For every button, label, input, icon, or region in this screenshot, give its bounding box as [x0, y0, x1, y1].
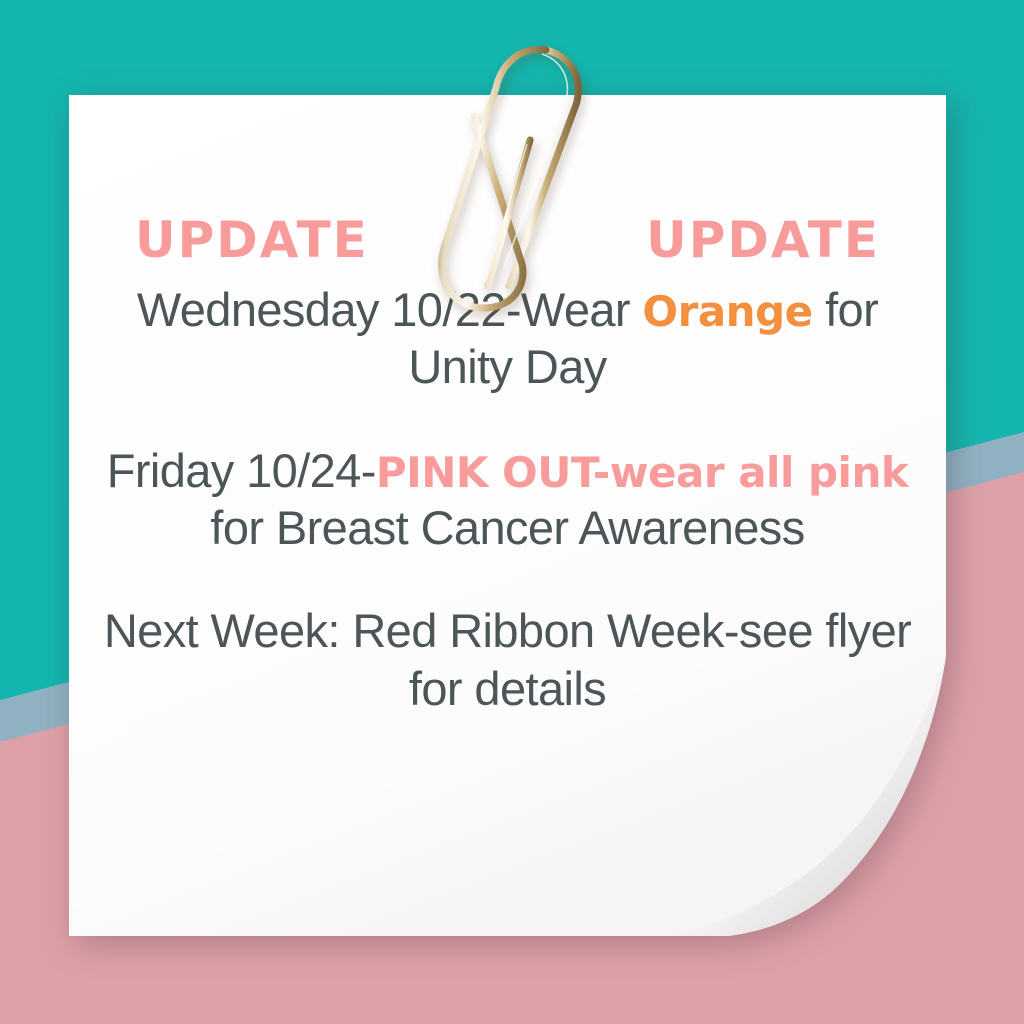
red-ribbon-week-text: Next Week: Red Ribbon Week-see flyer for… — [104, 604, 911, 714]
announcement-unity-day: Wednesday 10/22-Wear Orange for Unity Da… — [95, 281, 920, 396]
note-text-block: UPDATE UPDATE Wednesday 10/22-Wear Orang… — [69, 95, 946, 936]
announcement-list: Wednesday 10/22-Wear Orange for Unity Da… — [77, 281, 938, 717]
unity-day-text-lead: Wednesday 10/22-Wear — [137, 283, 643, 336]
headline-update-left: UPDATE — [135, 215, 369, 265]
unity-day-orange-emphasis: Orange — [642, 287, 812, 336]
announcement-red-ribbon-week: Next Week: Red Ribbon Week-see flyer for… — [95, 602, 920, 717]
pink-out-text-lead: Friday 10/24- — [107, 444, 376, 497]
pink-out-text-tail: for Breast Cancer Awareness — [210, 501, 804, 554]
note-paper: UPDATE UPDATE Wednesday 10/22-Wear Orang… — [69, 95, 946, 936]
headline-row: UPDATE UPDATE — [77, 215, 938, 265]
headline-update-right: UPDATE — [646, 215, 880, 265]
pink-out-pink-emphasis: PINK OUT-wear all pink — [376, 448, 908, 497]
poster-canvas: UPDATE UPDATE Wednesday 10/22-Wear Orang… — [0, 0, 1024, 1024]
announcement-pink-out: Friday 10/24-PINK OUT-wear all pink for … — [95, 442, 920, 557]
